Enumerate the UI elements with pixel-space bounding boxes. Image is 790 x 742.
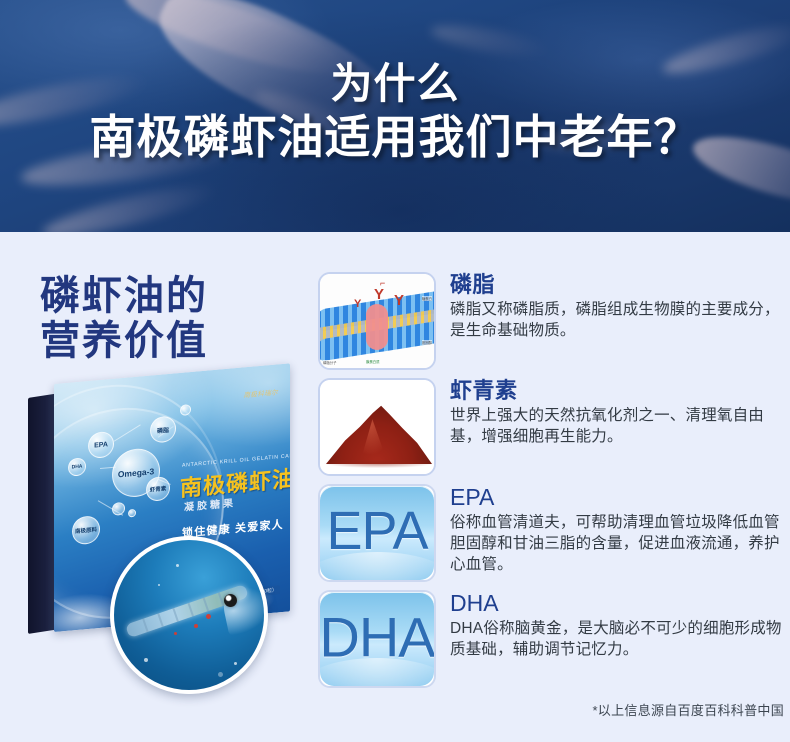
list-item[interactable]: EPA EPA 俗称血管清道夫，可帮助清理血管垃圾降低血管胆固醇和甘油三脂的含量… (318, 484, 788, 582)
list-item-body: 世界上强大的天然抗氧化剂之一、清理氧自由基，增强细胞再生能力。 (450, 406, 788, 448)
section-title: 磷虾油的 营养价值 (40, 274, 208, 364)
product-brand-mark: 南极科瑞尔 (244, 386, 279, 399)
product-image: Omega-3 EPA DHA 磷脂 虾青素 南极原料 南极科瑞尔 ANTARC… (20, 384, 300, 694)
list-item-heading: DHA (450, 591, 788, 616)
hero-heading-line-2: 南极磷虾油适用我们中老年？ (0, 113, 790, 162)
dha-tile-label: DHA (320, 605, 434, 670)
list-item[interactable]: DHA DHA DHA俗称脑黄金，是大脑必不可少的细胞形成物质基础，辅助调节记忆… (318, 590, 788, 688)
krill-eye (224, 594, 237, 607)
hero-banner: 为什么 南极磷虾油适用我们中老年？ (0, 0, 790, 232)
list-item-text: 虾青素 世界上强大的天然抗氧化剂之一、清理氧自由基，增强细胞再生能力。 (450, 378, 788, 476)
cell-membrane-icon: Y Y Y ⌐ 糖蛋白 胆固醇 磷脂分子 膜蛋白质 (318, 272, 436, 370)
hero-heading: 为什么 南极磷虾油适用我们中老年？ (0, 62, 790, 161)
epa-tile-icon: EPA (318, 484, 436, 582)
section-title-line-2: 营养价值 (40, 319, 208, 364)
list-item-heading: 虾青素 (450, 379, 788, 403)
benefit-list: Y Y Y ⌐ 糖蛋白 胆固醇 磷脂分子 膜蛋白质 磷脂 磷脂又称磷脂质，磷脂组… (318, 272, 788, 696)
list-item-text: DHA DHA俗称脑黄金，是大脑必不可少的细胞形成物质基础，辅助调节记忆力。 (450, 590, 788, 688)
list-item-heading: 磷脂 (450, 273, 788, 297)
content-area: 磷虾油的 营养价值 Omega-3 EPA DHA 磷脂 虾青素 南极原料 (0, 232, 790, 742)
list-item-body: 俗称血管清道夫，可帮助清理血管垃圾降低血管胆固醇和甘油三脂的含量，促进血液流通，… (450, 513, 788, 576)
krill-photo-inset (110, 536, 268, 694)
epa-tile-label: EPA (326, 500, 427, 562)
list-item-body: DHA俗称脑黄金，是大脑必不可少的细胞形成物质基础，辅助调节记忆力。 (450, 619, 788, 661)
dha-tile-icon: DHA (318, 590, 436, 688)
list-item[interactable]: 虾青素 世界上强大的天然抗氧化剂之一、清理氧自由基，增强细胞再生能力。 (318, 378, 788, 476)
list-item-heading: EPA (450, 485, 788, 510)
product-box-side (28, 394, 56, 634)
list-item-text: 磷脂 磷脂又称磷脂质，磷脂组成生物膜的主要成分，是生命基础物质。 (450, 272, 788, 370)
hero-heading-line-1: 为什么 (0, 62, 790, 107)
source-footnote: *以上信息源自百度百科科普中国 (592, 700, 784, 719)
list-item-text: EPA 俗称血管清道夫，可帮助清理血管垃圾降低血管胆固醇和甘油三脂的含量，促进血… (450, 484, 788, 582)
section-title-line-1: 磷虾油的 (40, 274, 208, 319)
list-item-body: 磷脂又称磷脂质，磷脂组成生物膜的主要成分，是生命基础物质。 (450, 300, 788, 342)
astaxanthin-powder-icon (318, 378, 436, 476)
product-subtitle: 凝胶糖果 (184, 494, 236, 514)
list-item[interactable]: Y Y Y ⌐ 糖蛋白 胆固醇 磷脂分子 膜蛋白质 磷脂 磷脂又称磷脂质，磷脂组… (318, 272, 788, 370)
